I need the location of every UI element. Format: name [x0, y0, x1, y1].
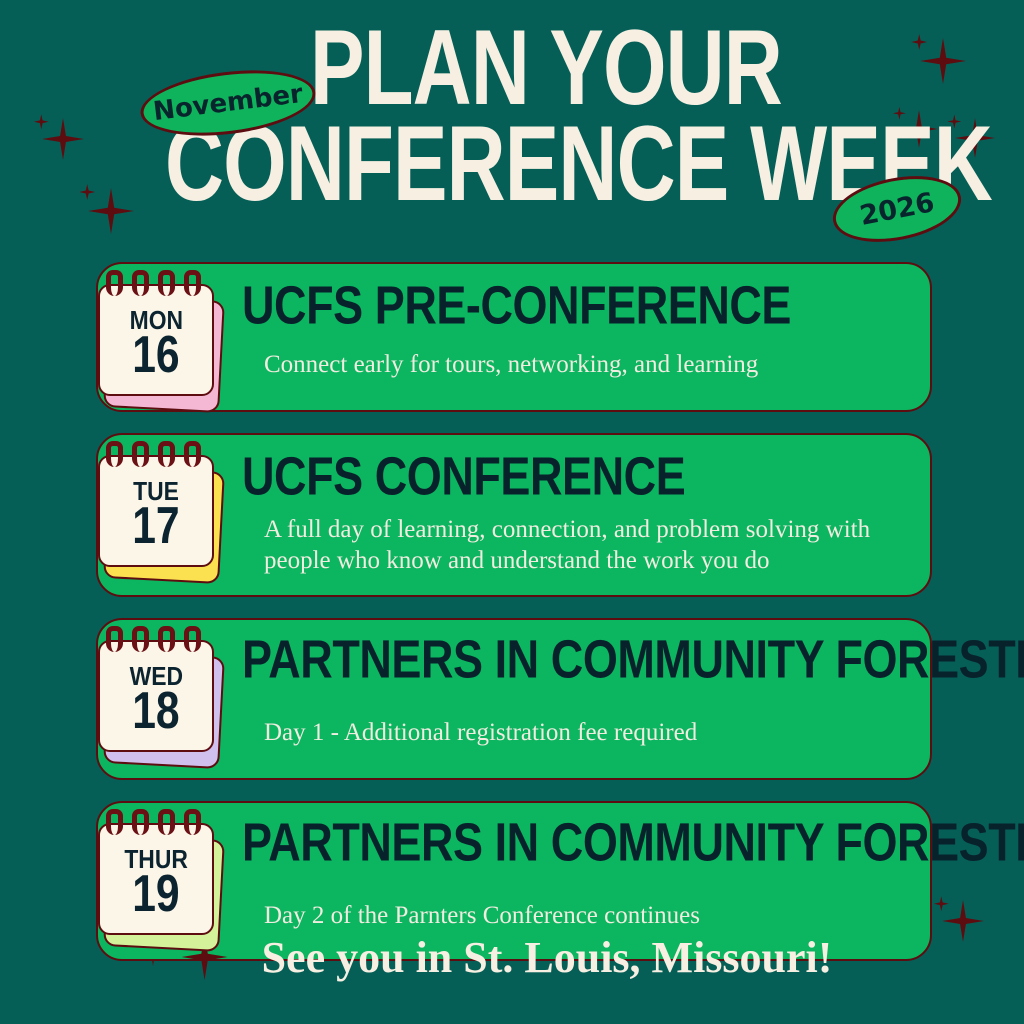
calendar-ring: [106, 441, 123, 467]
calendar-ring: [132, 626, 149, 652]
schedule-text-block: PARTNERS IN COMMUNITY FORESTRYDay 2 of t…: [242, 801, 914, 961]
calendar-front-page: WED18: [98, 640, 214, 752]
calendar-ring: [184, 626, 201, 652]
calendar-day-number: 16: [132, 331, 179, 380]
list-item[interactable]: WED18PARTNERS IN COMMUNITY FORESTRYDay 1…: [0, 618, 1024, 780]
poster-canvas: PLAN YOUR CONFERENCE WEEK November 2026 …: [0, 0, 1024, 1024]
schedule-list: MON16UCFS PRE-CONFERENCEConnect early fo…: [0, 262, 1024, 982]
calendar-ring: [106, 809, 123, 835]
calendar-ring: [158, 441, 175, 467]
schedule-item-title: PARTNERS IN COMMUNITY FORESTRY: [242, 632, 1024, 686]
calendar-day-number: 18: [132, 687, 179, 736]
calendar-ring: [184, 809, 201, 835]
poster-header: PLAN YOUR CONFERENCE WEEK November 2026: [0, 0, 1024, 250]
list-item[interactable]: THUR19PARTNERS IN COMMUNITY FORESTRYDay …: [0, 801, 1024, 961]
calendar-day-number: 19: [132, 870, 179, 919]
schedule-text-block: UCFS CONFERENCEA full day of learning, c…: [242, 433, 914, 597]
calendar-spiral-rings: [104, 270, 216, 300]
schedule-item-title: PARTNERS IN COMMUNITY FORESTRY: [242, 815, 1024, 869]
calendar-ring: [132, 809, 149, 835]
schedule-item-title: UCFS PRE-CONFERENCE: [242, 278, 791, 332]
calendar-ring: [184, 270, 201, 296]
calendar-ring: [184, 441, 201, 467]
calendar-ring: [132, 270, 149, 296]
calendar-spiral-rings: [104, 441, 216, 471]
calendar-day-number: 17: [132, 502, 179, 551]
calendar-icon: TUE17: [98, 455, 222, 573]
calendar-ring: [106, 626, 123, 652]
calendar-ring: [132, 441, 149, 467]
calendar-spiral-rings: [104, 626, 216, 656]
schedule-item-subtitle: Day 1 - Additional registration fee requ…: [264, 718, 964, 749]
schedule-item-title: UCFS CONFERENCE: [242, 449, 685, 503]
calendar-icon: MON16: [98, 284, 222, 402]
calendar-ring: [158, 626, 175, 652]
list-item[interactable]: TUE17UCFS CONFERENCEA full day of learni…: [0, 433, 1024, 597]
calendar-spiral-rings: [104, 809, 216, 839]
calendar-icon: THUR19: [98, 823, 222, 941]
calendar-ring: [158, 809, 175, 835]
calendar-ring: [106, 270, 123, 296]
schedule-text-block: UCFS PRE-CONFERENCEConnect early for tou…: [242, 262, 914, 412]
page-title-line-1: PLAN YOUR: [310, 22, 782, 116]
schedule-item-subtitle: Day 2 of the Parnters Conference continu…: [264, 901, 964, 932]
calendar-front-page: THUR19: [98, 823, 214, 935]
calendar-front-page: MON16: [98, 284, 214, 396]
calendar-front-page: TUE17: [98, 455, 214, 567]
calendar-ring: [158, 270, 175, 296]
list-item[interactable]: MON16UCFS PRE-CONFERENCEConnect early fo…: [0, 262, 1024, 412]
schedule-text-block: PARTNERS IN COMMUNITY FORESTRYDay 1 - Ad…: [242, 618, 914, 780]
schedule-item-subtitle: A full day of learning, connection, and …: [264, 515, 884, 576]
schedule-item-subtitle: Connect early for tours, networking, and…: [264, 350, 964, 381]
calendar-icon: WED18: [98, 640, 222, 758]
